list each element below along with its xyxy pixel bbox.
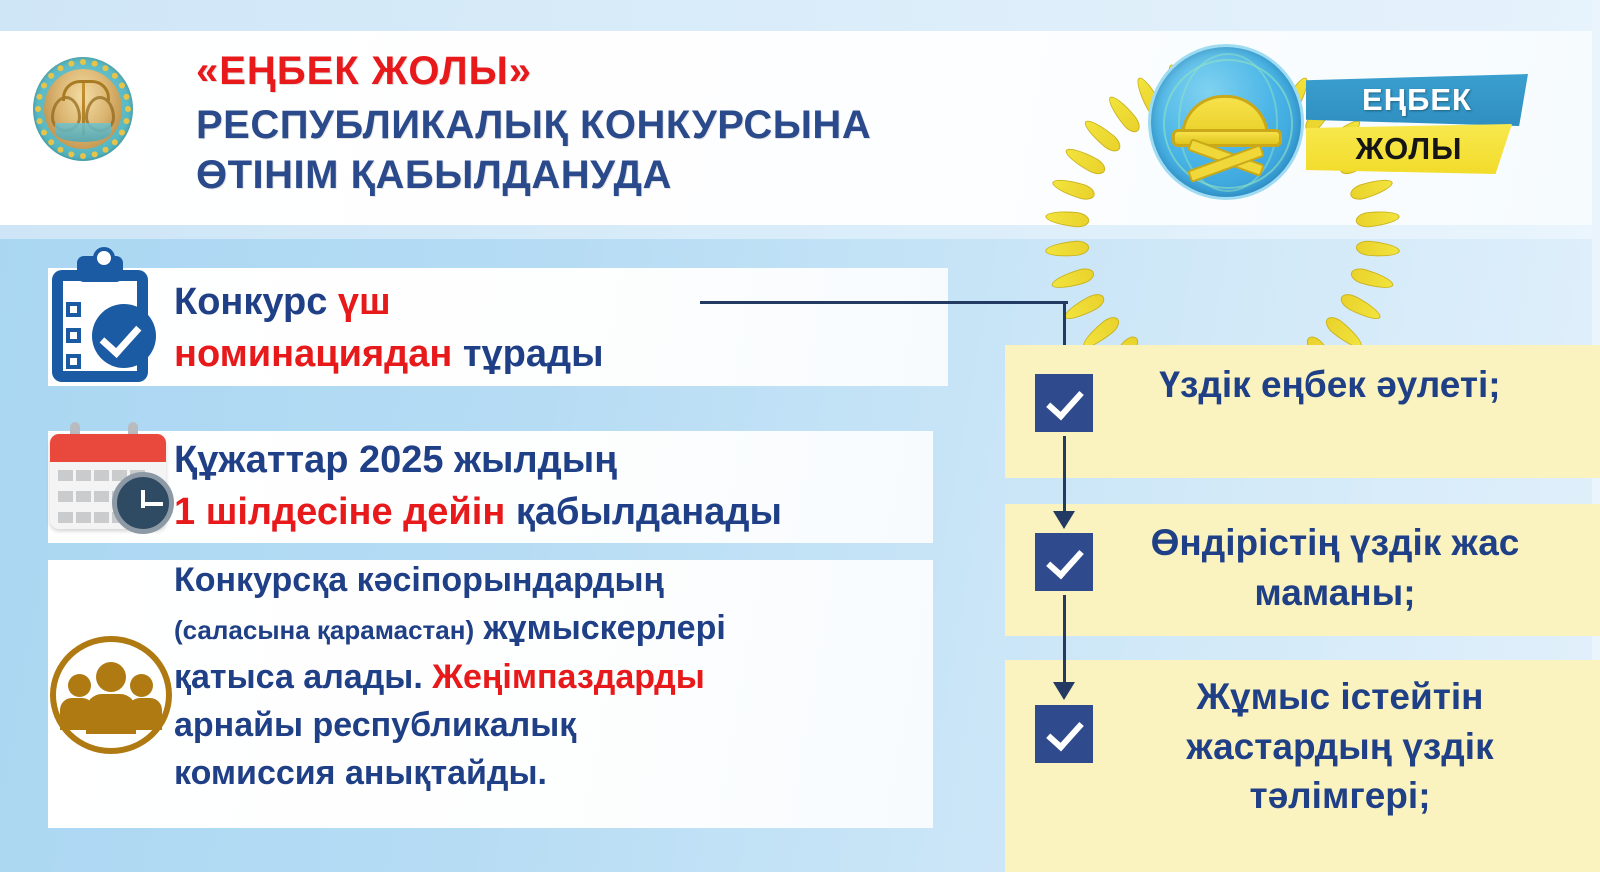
connector-vertical-3	[1063, 595, 1066, 685]
card2-text: Құжаттар 2025 жылдың 1 шілдесіне дейін қ…	[174, 434, 914, 539]
enbek-zholy-logo: ЕҢБЕК ЖОЛЫ	[1110, 8, 1530, 240]
nomination-label-1: Үздік еңбек әулеті;	[1120, 360, 1540, 410]
card1-line1-blue: Конкурс	[174, 281, 338, 323]
card2-line2-blue: қабылданады	[505, 491, 782, 533]
card3-line1: Конкурсқа кәсіпорындардың	[174, 561, 664, 599]
card1-line1-red: үш	[338, 281, 391, 323]
connector-horizontal	[700, 301, 1068, 304]
card3-line2-note: (саласына қарамастан)	[174, 615, 474, 645]
card3-line3-blue: қатыса алады.	[174, 658, 432, 696]
logo-tag-top: ЕҢБЕК	[1306, 74, 1528, 126]
logo-tag-top-label: ЕҢБЕК	[1306, 74, 1528, 126]
header-titles: «ЕҢБЕК ЖОЛЫ» РЕСПУБЛИКАЛЫҚ КОНКУРСЫНА ӨТ…	[196, 50, 1096, 200]
clipboard-check-icon	[44, 256, 156, 386]
nomination-label-2: Өндірістің үздік жас маманы;	[1110, 518, 1560, 617]
checkbox-nomination-3[interactable]	[1035, 705, 1093, 763]
nomination-label-3: Жұмыс істейтін жастардың үздік тәлімгері…	[1110, 672, 1570, 821]
card1-line2-red: номинациядан	[174, 333, 452, 375]
connector-arrow-2	[1053, 511, 1075, 529]
calendar-clock-icon	[44, 418, 172, 536]
card2-line2-red: 1 шілдесіне дейін	[174, 491, 505, 533]
globe-icon	[1148, 44, 1304, 200]
card3-line4: арнайы республикалық	[174, 706, 576, 744]
card2-line1: Құжаттар 2025 жылдың	[174, 439, 617, 481]
connector-arrow-3	[1053, 682, 1075, 700]
page-title-line3: ӨТІНІМ ҚАБЫЛДАНУДА	[196, 150, 1096, 200]
connector-vertical-2	[1063, 436, 1066, 514]
logo-tag-bottom: ЖОЛЫ	[1306, 124, 1512, 174]
kazakhstan-state-emblem-icon	[33, 57, 133, 161]
card3-text: Конкурсқа кәсіпорындардың (саласына қара…	[174, 556, 894, 797]
card1-text: Конкурс үш номинациядан тұрады	[174, 276, 874, 381]
card3-line5: комиссия анықтайды.	[174, 754, 547, 792]
checkbox-nomination-2[interactable]	[1035, 533, 1093, 591]
card1-line2-blue: тұрады	[452, 333, 603, 375]
page-title-red: «ЕҢБЕК ЖОЛЫ»	[196, 50, 1096, 92]
checkbox-nomination-1[interactable]	[1035, 374, 1093, 432]
card3-line3-red: Жеңімпаздарды	[432, 658, 705, 696]
page-title-line2: РЕСПУБЛИКАЛЫҚ КОНКУРСЫНА	[196, 100, 1096, 150]
people-group-icon	[50, 636, 172, 754]
logo-tag-bottom-label: ЖОЛЫ	[1306, 124, 1512, 174]
card3-line2-rest: жұмыскерлері	[474, 609, 726, 647]
